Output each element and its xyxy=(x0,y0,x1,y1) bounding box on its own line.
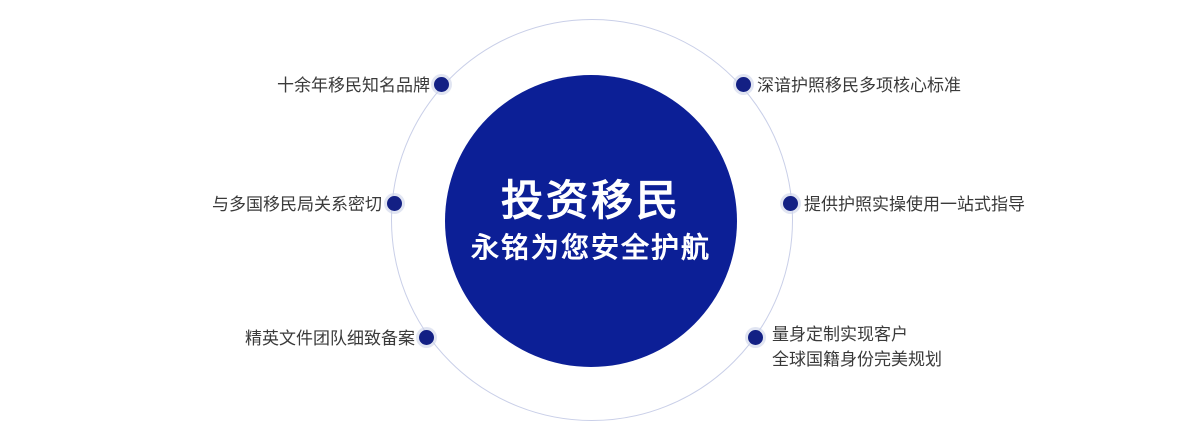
feature-label-line: 与多国移民局关系密切 xyxy=(212,193,382,218)
feature-label-line: 精英文件团队细致备案 xyxy=(245,327,415,352)
node-dot-top-right xyxy=(736,77,751,92)
feature-label-line: 提供护照实操使用一站式指导 xyxy=(804,193,1025,218)
node-dot-middle-left xyxy=(387,196,402,211)
feature-label-bottom-left: 精英文件团队细致备案 xyxy=(245,327,415,352)
node-dot-bottom-left xyxy=(419,330,434,345)
node-dot-bottom-right xyxy=(748,330,763,345)
feature-label-line-1: 量身定制实现客户 xyxy=(772,323,942,348)
feature-label-line: 十余年移民知名品牌 xyxy=(277,74,430,99)
feature-label-top-right: 深谙护照移民多项核心标准 xyxy=(757,74,961,99)
feature-label-top-left: 十余年移民知名品牌 xyxy=(277,74,430,99)
immigration-infographic: 投资移民 永铭为您安全护航 十余年移民知名品牌 深谙护照移民多项核心标准 与多国… xyxy=(0,0,1200,448)
feature-label-bottom-right: 量身定制实现客户 全球国籍身份完美规划 xyxy=(772,323,942,372)
feature-label-middle-right: 提供护照实操使用一站式指导 xyxy=(804,193,1025,218)
center-subtitle: 永铭为您安全护航 xyxy=(471,231,711,265)
node-dot-top-left xyxy=(434,77,449,92)
center-title: 投资移民 xyxy=(501,177,681,225)
node-dot-middle-right xyxy=(783,196,798,211)
feature-label-middle-left: 与多国移民局关系密切 xyxy=(212,193,382,218)
feature-label-line-2: 全球国籍身份完美规划 xyxy=(772,348,942,373)
center-circle: 投资移民 永铭为您安全护航 xyxy=(445,75,737,367)
feature-label-line: 深谙护照移民多项核心标准 xyxy=(757,74,961,99)
